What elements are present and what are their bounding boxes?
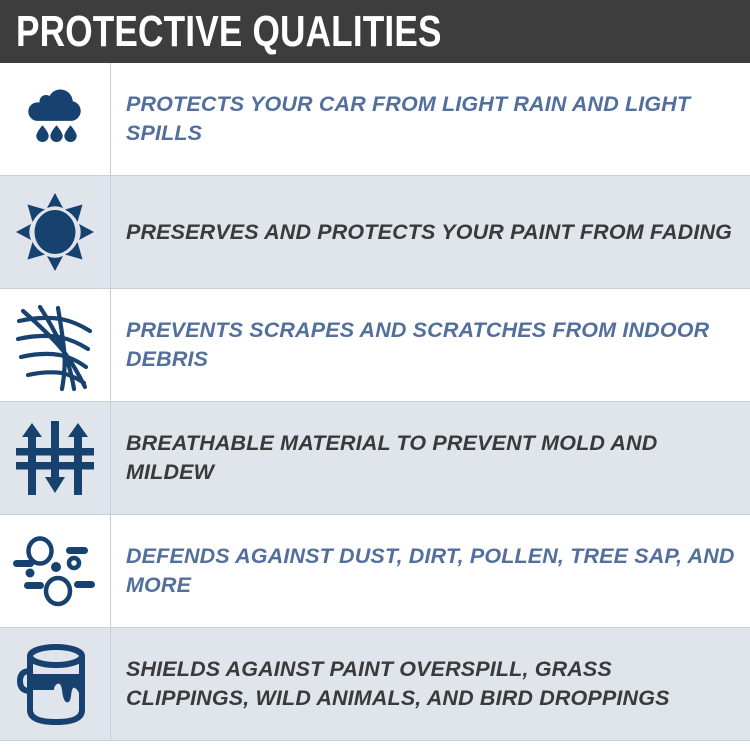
- list-item[interactable]: BREATHABLE MATERIAL TO PREVENT MOLD AND …: [0, 402, 750, 515]
- row-icon-cell: [0, 402, 111, 514]
- row-icon-cell: [0, 63, 111, 175]
- list-item-label: PRESERVES AND PROTECTS YOUR PAINT FROM F…: [111, 218, 750, 247]
- row-icon-cell: [0, 289, 111, 401]
- list-item[interactable]: SHIELDS AGAINST PAINT OVERSPILL, GRASS C…: [0, 628, 750, 741]
- footer-strip: [0, 741, 750, 755]
- header-bar: PROTECTIVE QUALITIES: [0, 0, 750, 63]
- list-item[interactable]: DEFENDS AGAINST DUST, DIRT, POLLEN, TREE…: [0, 515, 750, 628]
- sun-icon: [14, 191, 96, 273]
- list-item[interactable]: PREVENTS SCRAPES AND SCRATCHES FROM INDO…: [0, 289, 750, 402]
- list-item-label: DEFENDS AGAINST DUST, DIRT, POLLEN, TREE…: [111, 542, 750, 600]
- list-item[interactable]: PROTECTS YOUR CAR FROM LIGHT RAIN AND LI…: [0, 63, 750, 176]
- protective-qualities-infographic: PROTECTIVE QUALITIES PROTECTS YOUR CAR F…: [0, 0, 750, 750]
- list-item-label: SHIELDS AGAINST PAINT OVERSPILL, GRASS C…: [111, 655, 750, 713]
- list-item[interactable]: PRESERVES AND PROTECTS YOUR PAINT FROM F…: [0, 176, 750, 289]
- list-item-label: PROTECTS YOUR CAR FROM LIGHT RAIN AND LI…: [111, 90, 750, 148]
- feature-list: PROTECTS YOUR CAR FROM LIGHT RAIN AND LI…: [0, 63, 750, 741]
- row-icon-cell: [0, 515, 111, 627]
- scratch-net-icon: [12, 299, 98, 391]
- page-title: PROTECTIVE QUALITIES: [16, 10, 442, 54]
- row-icon-cell: [0, 176, 111, 288]
- row-icon-cell: [0, 628, 111, 740]
- paint-can-icon: [12, 640, 98, 728]
- dust-particles-icon: [11, 532, 99, 610]
- rain-cloud-icon: [15, 79, 95, 159]
- breathable-arrows-icon: [12, 415, 98, 501]
- list-item-label: PREVENTS SCRAPES AND SCRATCHES FROM INDO…: [111, 316, 750, 374]
- list-item-label: BREATHABLE MATERIAL TO PREVENT MOLD AND …: [111, 429, 750, 487]
